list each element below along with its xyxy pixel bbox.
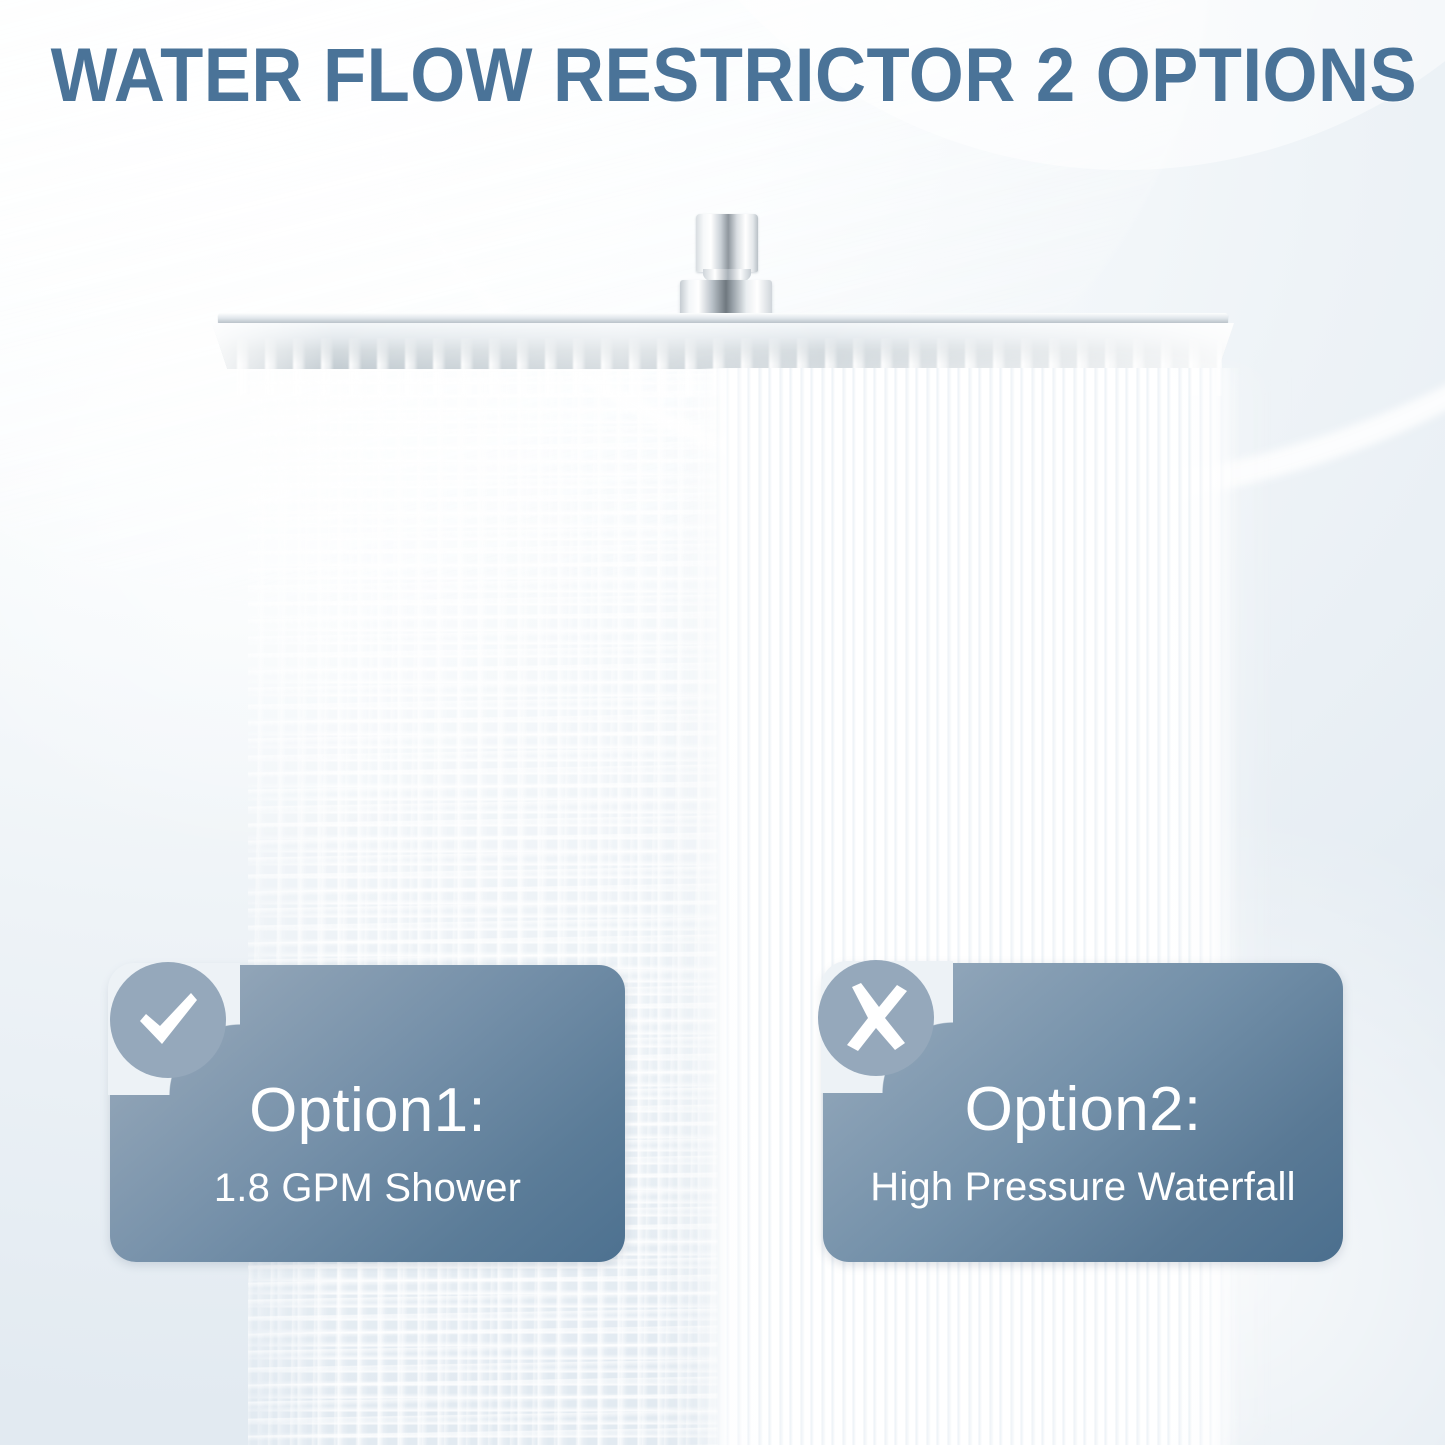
option-subtitle: High Pressure Waterfall [823,1167,1343,1207]
check-icon [110,962,226,1078]
option-title: Option1: [110,1080,625,1142]
shower-arm [672,214,780,326]
check-glyph [129,981,207,1059]
rain-droplet-spray-detail [248,370,718,1445]
shower-arm-upper-sleeve [696,214,758,272]
option-subtitle: 1.8 GPM Shower [110,1168,625,1208]
option-title: Option2: [823,1079,1343,1141]
cross-icon [818,960,934,1076]
product-feature-poster: WATER FLOW RESTRICTOR 2 OPTIONS [0,0,1445,1445]
waterfall-streaks [700,368,1240,1445]
page-title: WATER FLOW RESTRICTOR 2 OPTIONS [51,38,1395,114]
cross-glyph [835,977,917,1059]
